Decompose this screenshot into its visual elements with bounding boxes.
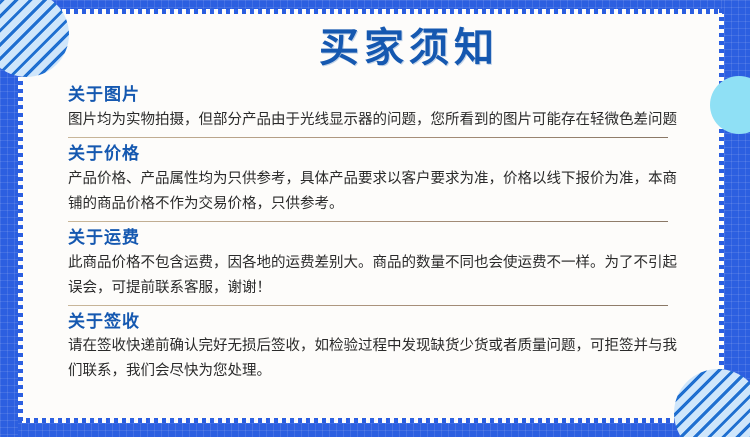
section-divider-2: [68, 221, 668, 222]
buyer-notice-banner: 买家须知 关于图片 图片均为实物拍摄，但部分产品由于光线显示器的问题，您所看到的…: [0, 0, 750, 437]
section-body-price: 产品价格、产品属性均为只供参考，具体产品要求以客户要求为准，价格以线下报价为准，…: [68, 167, 686, 217]
section-body-shipping: 此商品价格不包含运费，因各地的运费差别大。商品的数量不同也会使运费不一样。为了不…: [68, 251, 686, 301]
notice-section-receipt: 关于签收 请在签收快递前确认完好无损后签收，如检验过程中发现缺货少货或者质量问题…: [68, 311, 720, 385]
section-heading-images: 关于图片: [68, 84, 720, 107]
section-heading-price: 关于价格: [68, 143, 720, 166]
notice-section-images: 关于图片 图片均为实物拍摄，但部分产品由于光线显示器的问题，您所看到的图片可能存…: [68, 84, 720, 133]
section-heading-receipt: 关于签收: [68, 311, 720, 334]
notice-section-shipping: 关于运费 此商品价格不包含运费，因各地的运费差别大。商品的数量不同也会使运费不一…: [68, 227, 720, 301]
notice-section-price: 关于价格 产品价格、产品属性均为只供参考，具体产品要求以客户要求为准，价格以线下…: [68, 143, 720, 217]
section-heading-shipping: 关于运费: [68, 227, 720, 250]
page-title: 买家须知: [98, 28, 720, 68]
section-divider-3: [68, 305, 668, 306]
section-body-receipt: 请在签收快递前确认完好无损后签收，如检验过程中发现缺货少货或者质量问题，可拒签并…: [68, 334, 686, 384]
section-body-images: 图片均为实物拍摄，但部分产品由于光线显示器的问题，您所看到的图片可能存在轻微色差…: [68, 108, 686, 133]
notice-content: 买家须知 关于图片 图片均为实物拍摄，但部分产品由于光线显示器的问题，您所看到的…: [0, 0, 750, 437]
section-divider-1: [68, 137, 668, 138]
